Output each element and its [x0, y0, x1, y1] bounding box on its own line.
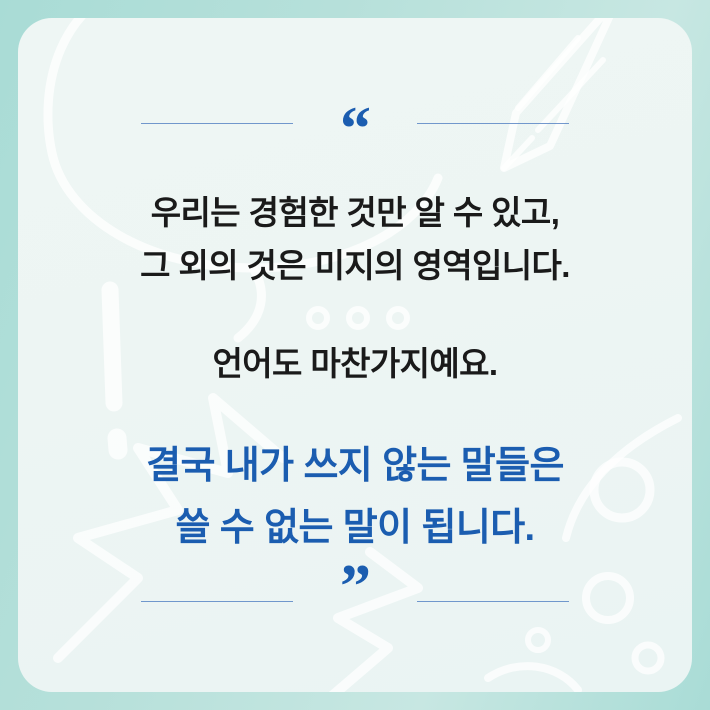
card-panel: “ 우리는 경험한 것만 알 수 있고, 그 외의 것은 미지의 영역입니다. … [18, 18, 692, 692]
ornament-rule-left [141, 601, 293, 602]
quote-card: “ 우리는 경험한 것만 알 수 있고, 그 외의 것은 미지의 영역입니다. … [0, 0, 710, 710]
quote-paragraph-1: 우리는 경험한 것만 알 수 있고, 그 외의 것은 미지의 영역입니다. [44, 186, 666, 293]
quote-ornament-top: “ [18, 96, 692, 150]
ornament-rule-right [417, 123, 569, 124]
ornament-rule-left [141, 123, 293, 124]
ornament-rule-right [417, 601, 569, 602]
quote-line-5: 쓸 수 없는 말이 됩니다. [44, 498, 666, 560]
quote-line-1: 우리는 경험한 것만 알 수 있고, [44, 186, 666, 239]
quote-ornament-bottom: ” [18, 574, 692, 628]
quote-paragraph-2: 언어도 마찬가지예요. [44, 337, 666, 390]
quote-paragraph-3: 결국 내가 쓰지 않는 말들은 쓸 수 없는 말이 됩니다. [44, 436, 666, 559]
close-quote-icon: ” [327, 556, 383, 618]
quote-line-3: 언어도 마찬가지예요. [44, 337, 666, 390]
open-quote-icon: “ [327, 98, 383, 160]
quote-line-2: 그 외의 것은 미지의 영역입니다. [44, 239, 666, 292]
quote-line-4: 결국 내가 쓰지 않는 말들은 [44, 436, 666, 498]
quote-text-block: 우리는 경험한 것만 알 수 있고, 그 외의 것은 미지의 영역입니다. 언어… [18, 186, 692, 559]
card-content: “ 우리는 경험한 것만 알 수 있고, 그 외의 것은 미지의 영역입니다. … [18, 18, 692, 692]
